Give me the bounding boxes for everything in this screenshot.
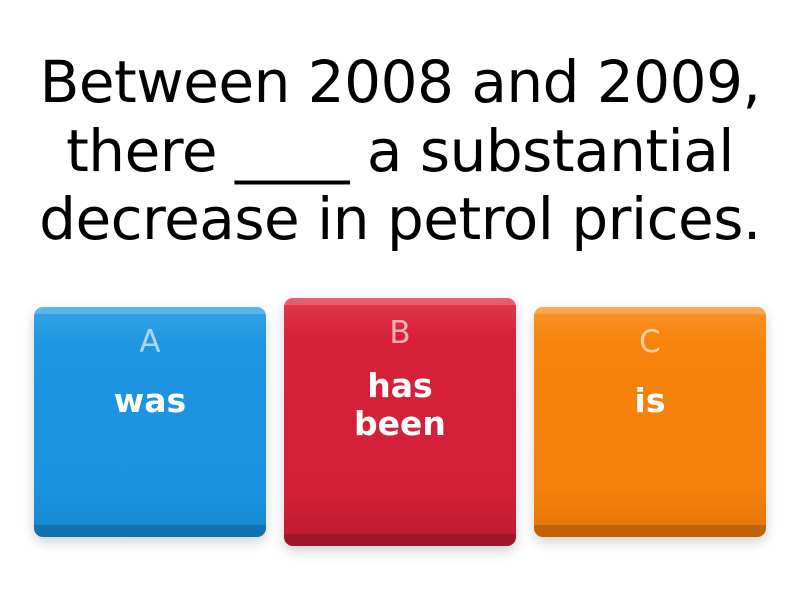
answer-options-row: A was B has been C is [0,288,800,556]
answer-text-a: was [114,382,186,420]
question-text: Between 2008 and 2009, there ____ a subs… [39,48,761,253]
answer-text-b: has been [354,367,446,444]
answer-letter-c: C [639,327,661,358]
answer-text-c: is [635,382,666,420]
answer-text-wrap-b: has been [284,349,516,546]
answer-letter-b: B [389,318,410,349]
answer-text-wrap-a: was [34,358,266,537]
answer-letter-a: A [139,327,160,358]
answer-card-a[interactable]: A was [34,307,266,537]
quiz-screen: Between 2008 and 2009, there ____ a subs… [0,0,800,600]
question-area: Between 2008 and 2009, there ____ a subs… [0,36,800,266]
answer-card-c[interactable]: C is [534,307,766,537]
answer-card-b[interactable]: B has been [284,298,516,546]
answer-text-wrap-c: is [534,358,766,537]
